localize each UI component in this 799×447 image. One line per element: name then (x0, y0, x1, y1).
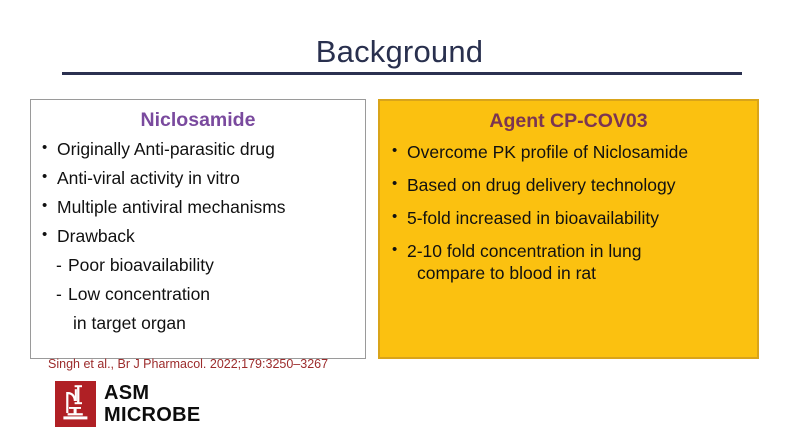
microscope-icon (55, 381, 96, 427)
asm-microbe-wordmark: ASM MICROBE (104, 382, 201, 426)
list-item: 5-fold increased in bioavailability (390, 208, 757, 228)
logo-line-asm: ASM (104, 382, 149, 404)
niclosamide-heading: Niclosamide (31, 108, 365, 132)
list-item: 2-10 fold concentration in lung (390, 241, 757, 261)
asm-microbe-logo: ASM MICROBE (55, 381, 201, 427)
list-item: Multiple antiviral mechanisms (40, 197, 365, 217)
cp-cov03-panel: Agent CP-COV03 Overcome PK profile of Ni… (378, 99, 759, 359)
cp-cov03-bullet-list: Overcome PK profile of Niclosamide Based… (380, 142, 757, 283)
list-item: Originally Anti-parasitic drug (40, 139, 365, 159)
sub-list-item: Low concentration (40, 284, 365, 304)
page-title: Background (0, 33, 799, 71)
list-item-continuation: compare to blood in rat (390, 263, 757, 283)
slide-canvas: Background Niclosamide Originally Anti-p… (0, 0, 799, 447)
list-item: Drawback (40, 226, 365, 246)
title-divider (62, 72, 742, 75)
citation-text: Singh et al., Br J Pharmacol. 2022;179:3… (48, 357, 328, 371)
sub-list-item-continuation: in target organ (40, 313, 365, 333)
list-item: Overcome PK profile of Niclosamide (390, 142, 757, 162)
niclosamide-panel: Niclosamide Originally Anti-parasitic dr… (30, 99, 366, 359)
list-item: Based on drug delivery technology (390, 175, 757, 195)
list-item: Anti-viral activity in vitro (40, 168, 365, 188)
cp-cov03-heading: Agent CP-COV03 (380, 109, 757, 133)
sub-list-item: Poor bioavailability (40, 255, 365, 275)
logo-line-microbe: MICROBE (104, 404, 201, 426)
niclosamide-bullet-list: Originally Anti-parasitic drug Anti-vira… (31, 139, 365, 333)
